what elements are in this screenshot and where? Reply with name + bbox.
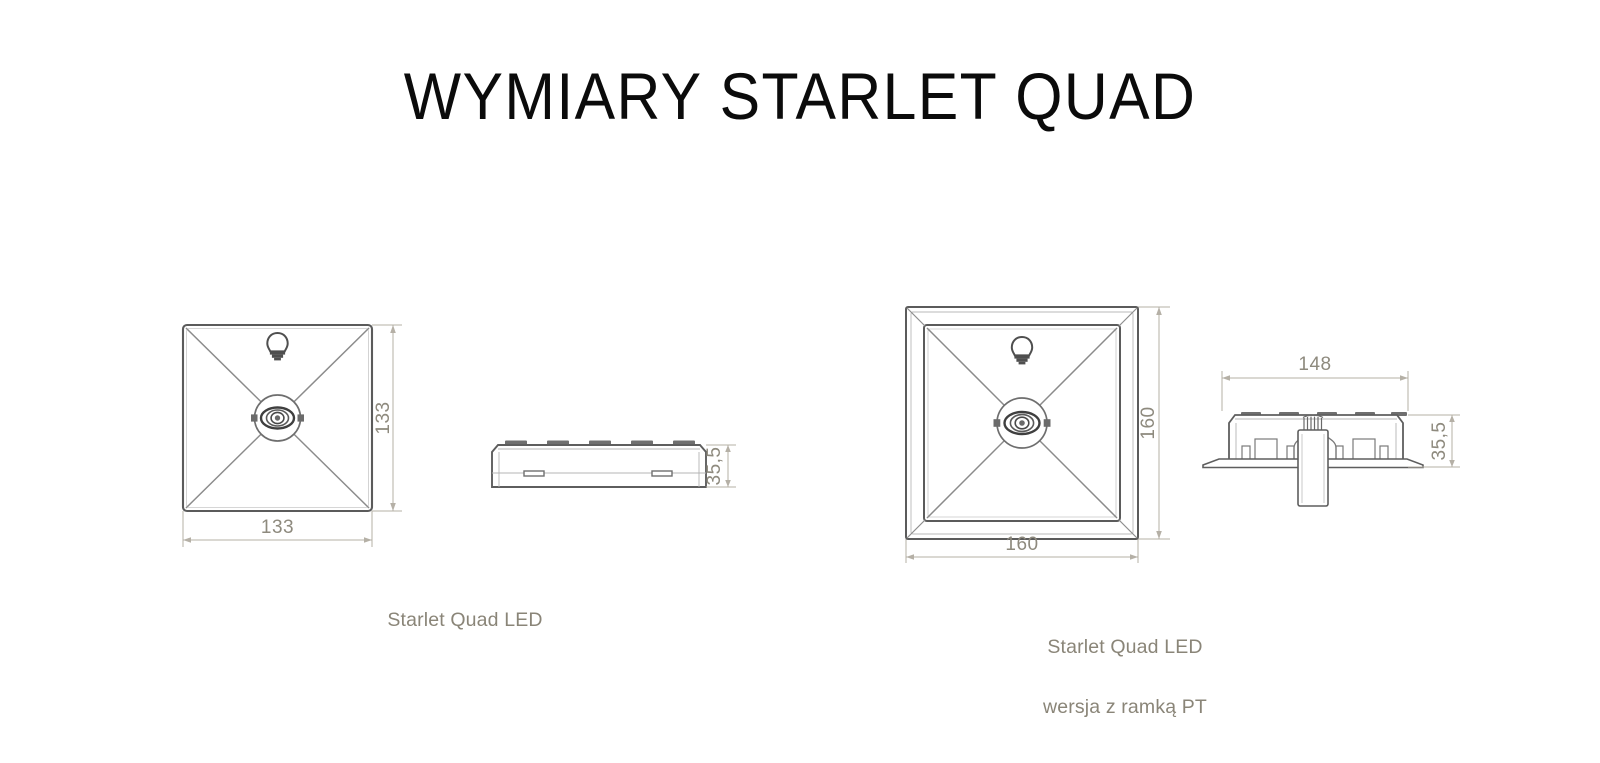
dim-left-plan-height: 133 (373, 401, 394, 434)
caption-starlet-quad-led-pt: Starlet Quad LED wersja z ramką PT (1000, 602, 1250, 752)
figure-starlet-quad-led: 133 133 (150, 295, 750, 565)
right-section-view: 148 (1203, 354, 1423, 506)
left-side-view (492, 441, 706, 488)
caption-line-1: Starlet Quad LED (1000, 632, 1250, 662)
page-title: WYMIARY STARLET QUAD (64, 62, 1536, 131)
dim-right-plan-height: 160 (1138, 406, 1159, 439)
drawing-starlet-quad-led-pt: 160 160 148 (880, 285, 1500, 575)
figure-starlet-quad-led-pt: 160 160 148 (880, 285, 1500, 575)
dim-left-side-depth: 35,5 (704, 447, 725, 486)
dim-right-section-depth: 35,5 (1429, 422, 1450, 461)
left-plan-view (183, 325, 372, 511)
dim-right-section-width: 148 (1298, 354, 1331, 375)
dim-left-plan-width: 133 (261, 517, 294, 538)
drawing-starlet-quad-led: 133 133 (150, 295, 750, 565)
caption-line-2: wersja z ramką PT (1000, 692, 1250, 722)
side-body-outline (492, 445, 706, 487)
dimension-lines-section-width (1222, 371, 1408, 411)
slide-root: WYMIARY STARLET QUAD (0, 0, 1600, 763)
dim-right-plan-width: 160 (1005, 534, 1038, 555)
mounting-stem (1298, 430, 1328, 506)
right-plan-view (906, 307, 1138, 539)
caption-starlet-quad-led: Starlet Quad LED (365, 605, 565, 635)
